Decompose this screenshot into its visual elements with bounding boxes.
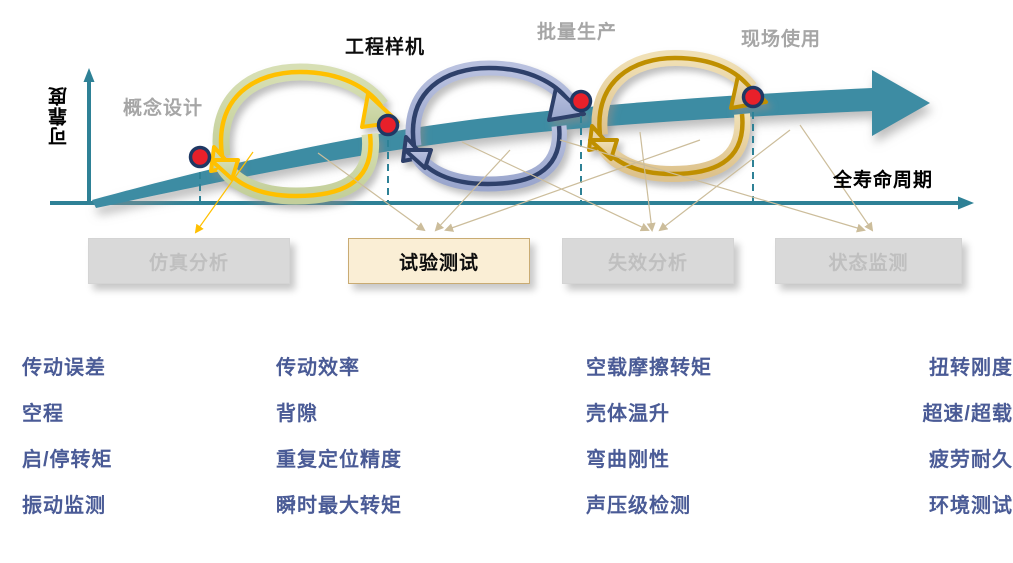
parameter-item: 弯曲刚性 [586, 437, 826, 483]
parameter-item: 壳体温升 [586, 391, 826, 437]
parameter-item: 传动效率 [276, 345, 516, 391]
parameter-item: 扭转刚度 [893, 345, 1013, 391]
milestone-marker-1 [191, 148, 210, 167]
parameter-column-2: 传动效率 背隙 重复定位精度 瞬时最大转矩 [276, 345, 516, 529]
milestone-marker-3 [572, 92, 591, 111]
parameter-column-1: 传动误差 空程 启/停转矩 振动监测 [22, 345, 262, 529]
connector-fail-b [640, 132, 652, 230]
y-axis-title: 可靠度 [48, 86, 72, 146]
parameter-item: 空载摩擦转矩 [586, 345, 826, 391]
parameter-item: 振动监测 [22, 483, 262, 529]
parameter-column-3: 空载摩擦转矩 壳体温升 弯曲刚性 声压级检测 [586, 345, 826, 529]
x-axis-title: 全寿命周期 [833, 165, 933, 192]
activity-box-failure-analysis[interactable]: 失效分析 [562, 238, 734, 284]
parameter-item: 重复定位精度 [276, 437, 516, 483]
parameter-item: 启/停转矩 [22, 437, 262, 483]
parameter-item: 背隙 [276, 391, 516, 437]
milestone-marker-4 [744, 88, 763, 107]
concept-prototype-loop [211, 72, 398, 196]
parameter-item: 空程 [22, 391, 262, 437]
stage-label-concept-design: 概念设计 [123, 93, 203, 120]
activity-box-experimental-testing[interactable]: 试验测试 [348, 238, 530, 284]
milestone-marker-2 [379, 116, 398, 135]
diagram-canvas: 可靠度 全寿命周期 概念设计 工程样机 批量生产 现场使用 仿真分析 试验测试 … [0, 0, 1013, 563]
stage-label-mass-production: 批量生产 [537, 17, 617, 44]
activity-box-condition-monitoring[interactable]: 状态监测 [775, 238, 962, 284]
stage-label-field-use: 现场使用 [741, 24, 821, 51]
parameter-item: 声压级检测 [586, 483, 826, 529]
parameter-item: 疲劳耐久 [893, 437, 1013, 483]
parameter-item: 环境测试 [893, 483, 1013, 529]
stage-label-engineering-prototype: 工程样机 [345, 32, 425, 59]
parameter-item: 传动误差 [22, 345, 262, 391]
parameter-column-4: 扭转刚度 超速/超载 疲劳耐久 环境测试 [893, 345, 1013, 529]
parameter-grid: 传动误差 空程 启/停转矩 振动监测 传动效率 背隙 重复定位精度 瞬时最大转矩… [0, 345, 1013, 563]
parameter-item: 瞬时最大转矩 [276, 483, 516, 529]
parameter-item: 超速/超载 [893, 391, 1013, 437]
activity-box-simulation-analysis[interactable]: 仿真分析 [88, 238, 290, 284]
connector-monitor-a [560, 140, 864, 230]
